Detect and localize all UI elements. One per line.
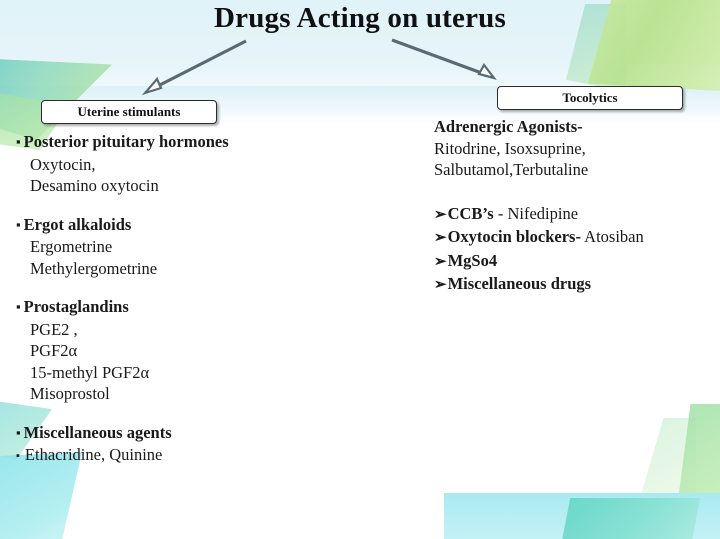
label-box-uterine-stimulants[interactable]: Uterine stimulants: [41, 100, 217, 124]
group-heading: Miscellaneous agents: [16, 422, 346, 445]
tocolytic-bullet-rest: Atosiban: [581, 227, 644, 246]
arrow-to-tocolytics: [392, 40, 494, 78]
uterine-stimulants-list: Posterior pituitary hormones Oxytocin, D…: [16, 131, 346, 469]
spacer: [16, 197, 346, 214]
adrenergic-item: Ritodrine, Isoxsuprine,: [434, 138, 704, 160]
adrenergic-heading: Adrenergic Agonists-: [434, 116, 704, 138]
slide-canvas: Drugs Acting on uterus Uterine stimulant…: [0, 0, 720, 539]
spacer: [434, 181, 704, 192]
arrow-to-uterine-stimulants: [145, 41, 246, 93]
tocolytic-bullet-bold: Miscellaneous drugs: [448, 274, 591, 293]
spacer: [16, 279, 346, 296]
group-heading: Posterior pituitary hormones: [16, 131, 346, 154]
spacer: [434, 192, 704, 203]
spacer: [16, 405, 346, 422]
group-heading: Ergot alkaloids: [16, 214, 346, 237]
tocolytics-list: Adrenergic Agonists- Ritodrine, Isoxsupr…: [434, 116, 704, 297]
group-item: Ergometrine: [16, 236, 346, 258]
tocolytic-bullet: CCB’s - Nifedipine: [434, 203, 704, 227]
group-item: PGF2α: [16, 340, 346, 362]
label-box-tocolytics[interactable]: Tocolytics: [497, 86, 683, 110]
tocolytic-bullet: Oxytocin blockers- Atosiban: [434, 226, 704, 250]
group-heading: Prostaglandins: [16, 296, 346, 319]
group-item: Methylergometrine: [16, 258, 346, 280]
tocolytic-bullet: Miscellaneous drugs: [434, 273, 704, 297]
group-item: Desamino oxytocin: [16, 175, 346, 197]
tocolytic-bullet-bold: CCB’s: [448, 204, 494, 223]
group-item: Oxytocin,: [16, 154, 346, 176]
tocolytic-bullet: MgSo4: [434, 250, 704, 274]
group-item: PGE2 ,: [16, 319, 346, 341]
group-item: Misoprostol: [16, 383, 346, 405]
tocolytic-bullet-bold: MgSo4: [448, 251, 498, 270]
tocolytic-bullet-rest: - Nifedipine: [494, 204, 578, 223]
adrenergic-item: Salbutamol,Terbutaline: [434, 159, 704, 181]
group-item: Ethacridine, Quinine: [16, 444, 346, 469]
tocolytic-bullet-bold: Oxytocin blockers-: [448, 227, 581, 246]
group-item: 15-methyl PGF2α: [16, 362, 346, 384]
